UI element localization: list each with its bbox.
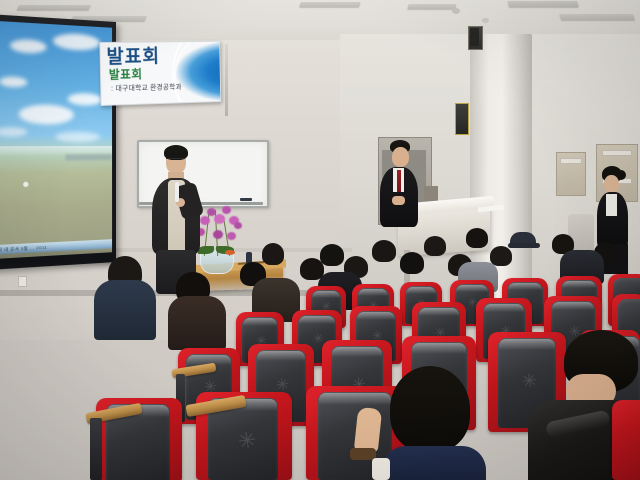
cap-brim [508, 243, 540, 248]
orchid-bloom [234, 222, 242, 229]
orchid-bloom [214, 214, 225, 224]
orchid-bloom [213, 230, 223, 239]
audience-hand [354, 407, 382, 453]
notice-sheet [560, 158, 582, 164]
projected-image [0, 21, 112, 260]
staff-hands [392, 196, 405, 205]
banner-title: 발표회 [106, 46, 160, 68]
audience-member [466, 228, 488, 248]
whiteboard-marker [240, 198, 252, 201]
audience-body [94, 280, 156, 340]
wall-outlet [18, 276, 27, 287]
audience-member [490, 246, 512, 266]
woman-head [604, 175, 619, 193]
screen-shadow [0, 250, 116, 264]
orchid-bloom [227, 232, 236, 240]
audience-member [262, 243, 284, 265]
staff-in-suit [378, 140, 420, 230]
banner-pole [225, 44, 228, 116]
audience-member [320, 244, 344, 266]
wrist-band [350, 448, 376, 460]
notice-sheet [602, 150, 632, 156]
presenter-with-microphone [148, 142, 204, 292]
audience-member [372, 240, 396, 262]
ceiling-vent [482, 18, 489, 23]
orchid-bloom [222, 206, 231, 214]
audience-member [424, 236, 446, 256]
ceiling-light [407, 4, 456, 9]
audience-sweater [382, 446, 486, 480]
staff-tie [397, 170, 401, 192]
audience-body [168, 296, 226, 350]
audience-member-foreground [372, 366, 492, 480]
banner-arc [173, 41, 221, 106]
wall-speaker [455, 103, 469, 135]
ceiling-light [507, 1, 578, 7]
staff-head [392, 147, 409, 167]
audience-member [400, 252, 424, 274]
event-banner: 발표회 발표회 : 대구대학교 환경공학과 [99, 41, 221, 106]
orchid-accent [225, 250, 235, 255]
auditorium-photo: 시작 내 문서 3월 ... 2011 발표회 발표회 : 대구대학교 환경공학… [0, 0, 640, 480]
ceiling-light [559, 14, 635, 20]
audience-hair [390, 366, 470, 452]
banner-subtitle: 발표회 [109, 67, 143, 82]
held-paper [372, 458, 390, 480]
armrest-post [90, 418, 102, 480]
woman-blouse [606, 194, 617, 216]
ceiling-light [299, 2, 361, 7]
speaker-grille [470, 28, 479, 46]
microphone-icon [175, 182, 179, 202]
ceiling-vent [452, 8, 460, 14]
glasses-icon [166, 158, 185, 163]
ceiling-light [17, 5, 91, 10]
